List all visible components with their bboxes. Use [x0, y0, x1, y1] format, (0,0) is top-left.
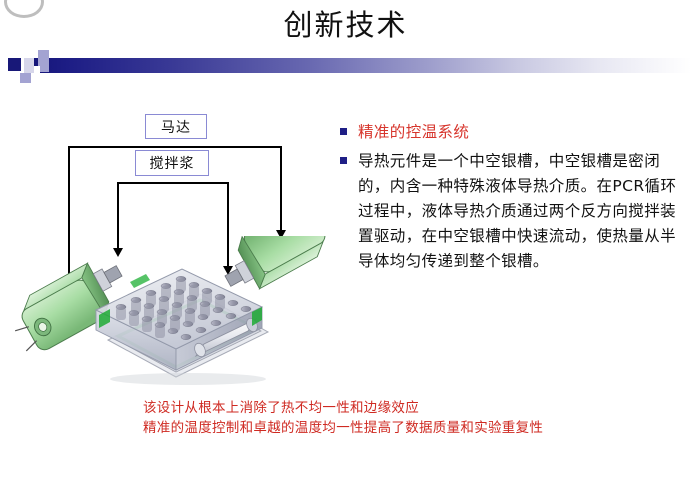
- slide-canvas: 创新技术 马达 搅拌浆: [0, 0, 691, 478]
- bullet-list: 精准的控温系统 导热元件是一个中空银槽，中空银槽是密闭的，内含一种特殊液体导热介…: [340, 120, 688, 278]
- motor-bracket-top: [68, 146, 282, 148]
- bullet-text: 导热元件是一个中空银槽，中空银槽是密闭的，内含一种特殊液体导热介质。在PCR循环…: [358, 149, 688, 274]
- pcr-assembly-figure: [0, 236, 345, 386]
- deco-square: [8, 58, 21, 71]
- transparent-silver-trough: [96, 269, 268, 377]
- list-item: 精准的控温系统: [340, 120, 688, 145]
- diagram-label-motor: 马达: [145, 114, 207, 139]
- gradient-bar: [28, 58, 691, 73]
- page-title: 创新技术: [0, 0, 691, 46]
- bullet-square-icon: [340, 157, 347, 164]
- diagram-label-paddle: 搅拌浆: [135, 150, 209, 176]
- right-motor: [211, 236, 343, 300]
- deco-square: [20, 73, 31, 83]
- footnote-block: 该设计从根本上消除了热不均一性和边缘效应 精准的温度控制和卓越的温度均一性提高了…: [143, 398, 683, 438]
- footnote-line: 精准的温度控制和卓越的温度均一性提高了数据质量和实验重复性: [143, 418, 683, 438]
- paddle-bracket-top: [117, 182, 229, 184]
- bullet-text: 精准的控温系统: [358, 120, 469, 145]
- title-divider-bar: [0, 48, 691, 82]
- deco-square: [24, 58, 34, 66]
- list-item: 导热元件是一个中空银槽，中空银槽是密闭的，内含一种特殊液体导热介质。在PCR循环…: [340, 149, 688, 274]
- bullet-square-icon: [340, 128, 347, 135]
- footnote-line: 该设计从根本上消除了热不均一性和边缘效应: [143, 398, 683, 418]
- motor-right-stem: [280, 146, 282, 232]
- deco-square: [34, 66, 40, 73]
